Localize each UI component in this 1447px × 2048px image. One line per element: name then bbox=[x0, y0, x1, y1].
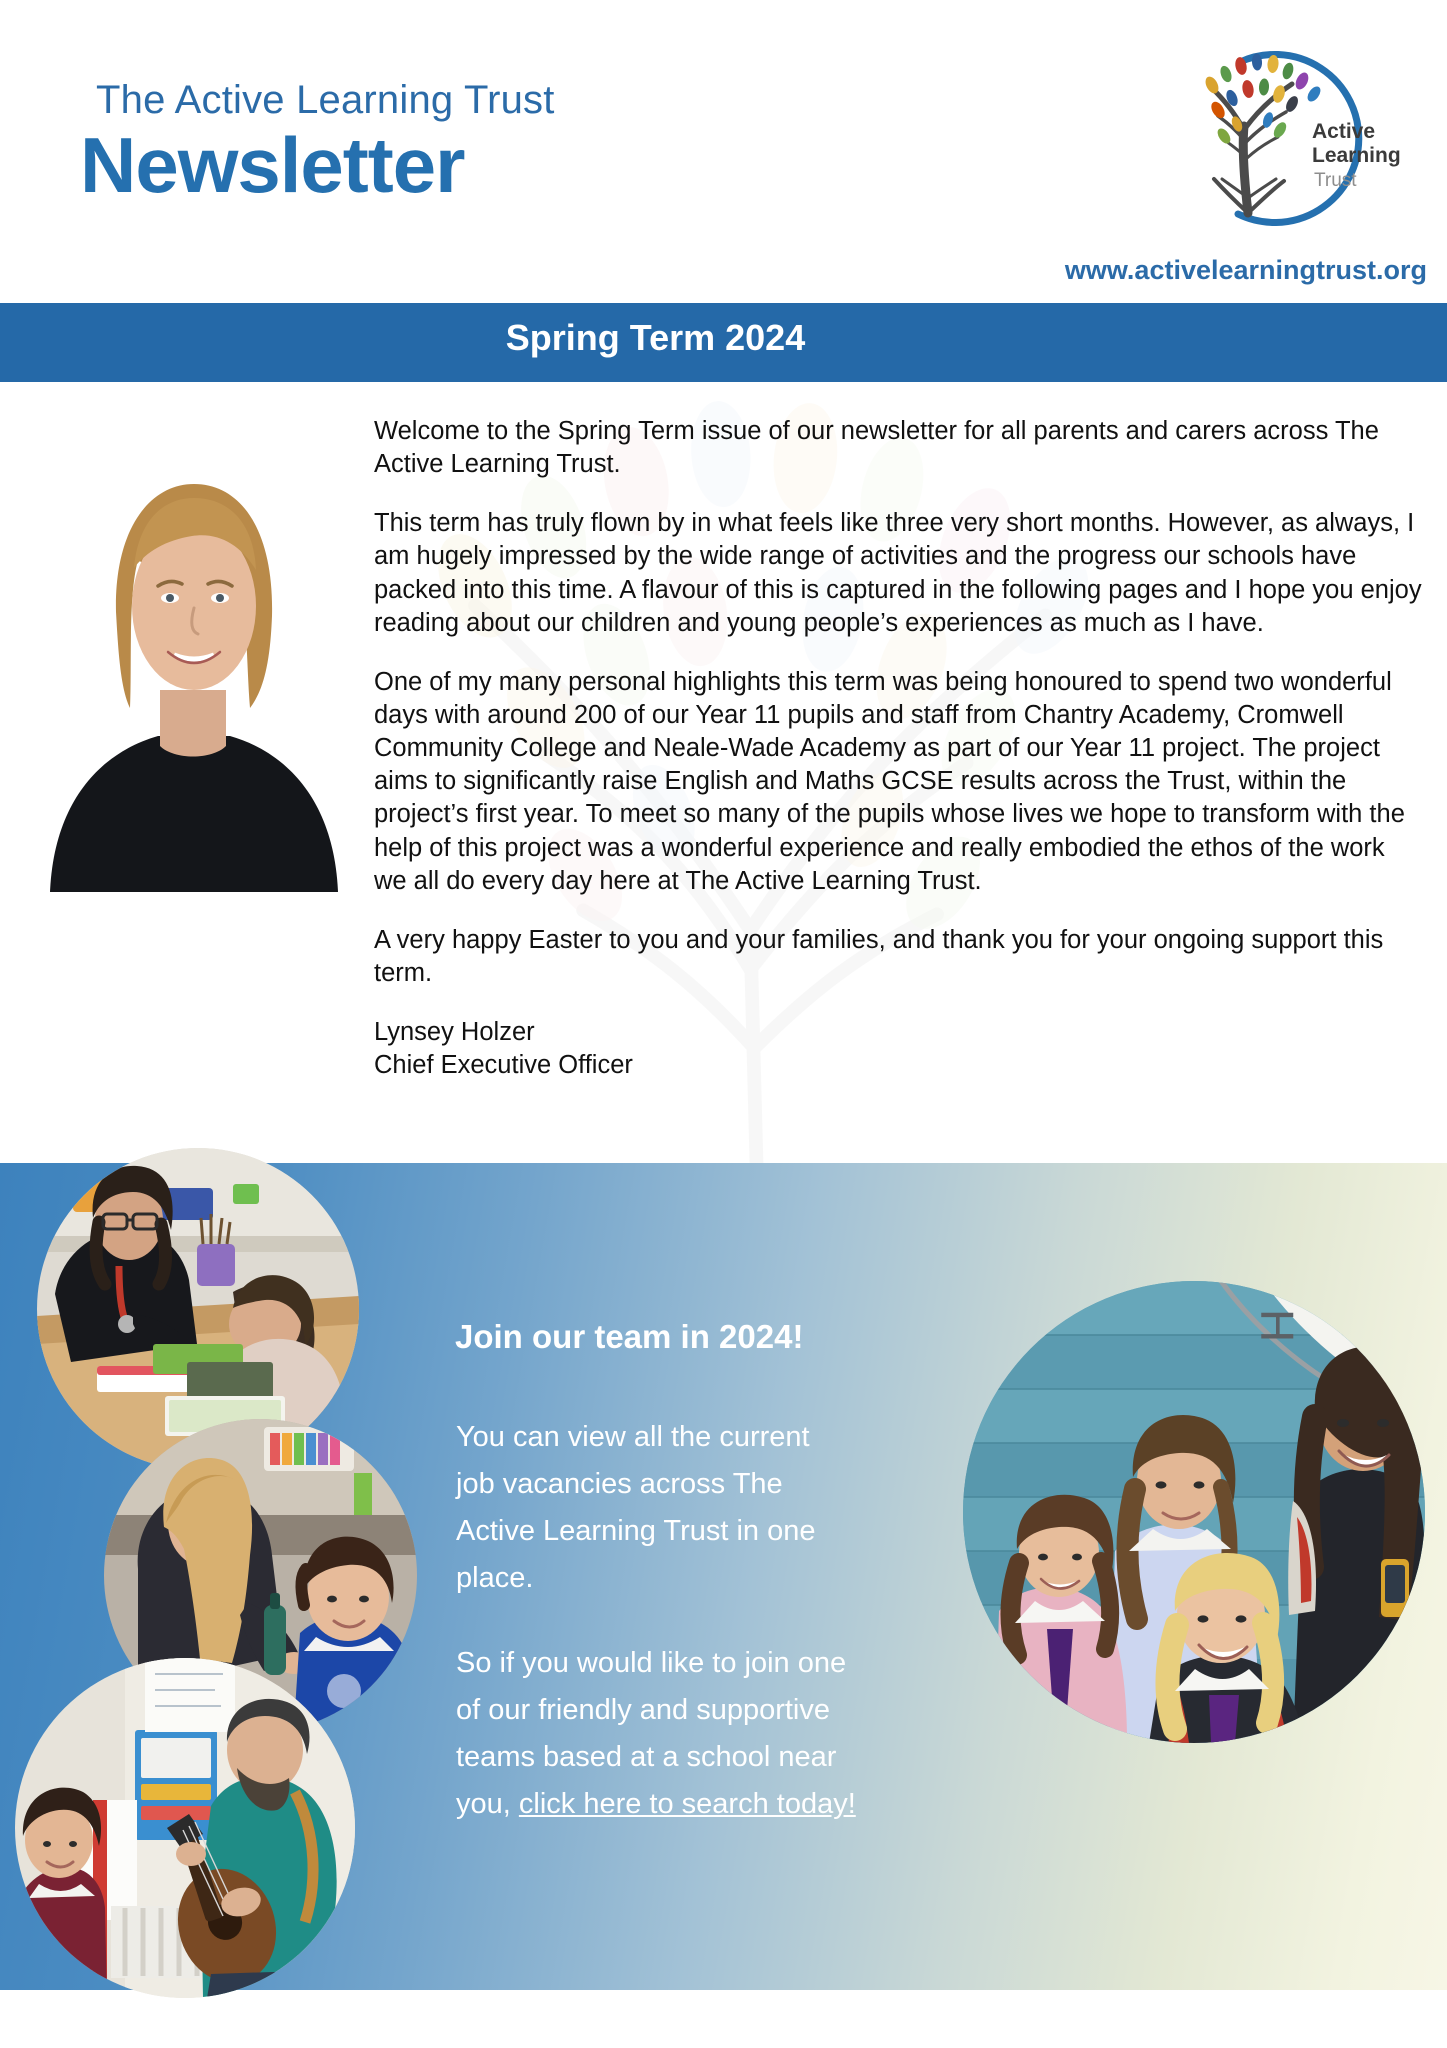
photo-teacher-playing-guitar bbox=[15, 1658, 355, 1998]
signature-role: Chief Executive Officer bbox=[374, 1049, 1424, 1082]
letter-paragraph-3: One of my many personal highlights this … bbox=[374, 666, 1424, 898]
term-banner-title: Spring Term 2024 bbox=[0, 317, 1311, 359]
letter-paragraph-2: This term has truly flown by in what fee… bbox=[374, 507, 1424, 640]
sign-letter-h: H bbox=[1251, 1309, 1303, 1342]
job-search-link[interactable]: click here to search today! bbox=[519, 1788, 856, 1820]
brand-name: The Active Learning Trust bbox=[96, 78, 555, 123]
signature-name: Lynsey Holzer bbox=[374, 1016, 1424, 1049]
page-title: Newsletter bbox=[80, 120, 465, 211]
join-our-team-body: You can view all the current job vacanci… bbox=[456, 1414, 856, 1828]
active-learning-trust-logo-icon: Active Learning Trust bbox=[1178, 38, 1408, 238]
ceo-letter: Welcome to the Spring Term issue of our … bbox=[374, 415, 1424, 1082]
logo-line-trust: Trust bbox=[1314, 170, 1357, 191]
term-banner: Spring Term 2024 bbox=[0, 303, 1447, 382]
newsletter-page: The Active Learning Trust Newsletter www… bbox=[0, 0, 1447, 2048]
logo-line-learning: Learning bbox=[1312, 144, 1401, 167]
recruitment-paragraph-1: You can view all the current job vacanci… bbox=[456, 1414, 856, 1602]
ceo-portrait-photo bbox=[42, 440, 340, 892]
website-url[interactable]: www.activelearningtrust.org bbox=[1065, 255, 1427, 286]
join-our-team-heading: Join our team in 2024! bbox=[455, 1318, 803, 1356]
letter-paragraph-4: A very happy Easter to you and your fami… bbox=[374, 924, 1424, 990]
logo-line-active: Active bbox=[1312, 120, 1375, 143]
recruitment-paragraph-2: So if you would like to join one of our … bbox=[456, 1640, 856, 1828]
photo-staff-member-with-three-pupils: H bbox=[963, 1281, 1425, 1743]
photo-teacher-with-pupil-at-desk bbox=[37, 1148, 359, 1470]
letter-paragraph-1: Welcome to the Spring Term issue of our … bbox=[374, 415, 1424, 481]
page-header: The Active Learning Trust Newsletter www… bbox=[0, 0, 1447, 300]
